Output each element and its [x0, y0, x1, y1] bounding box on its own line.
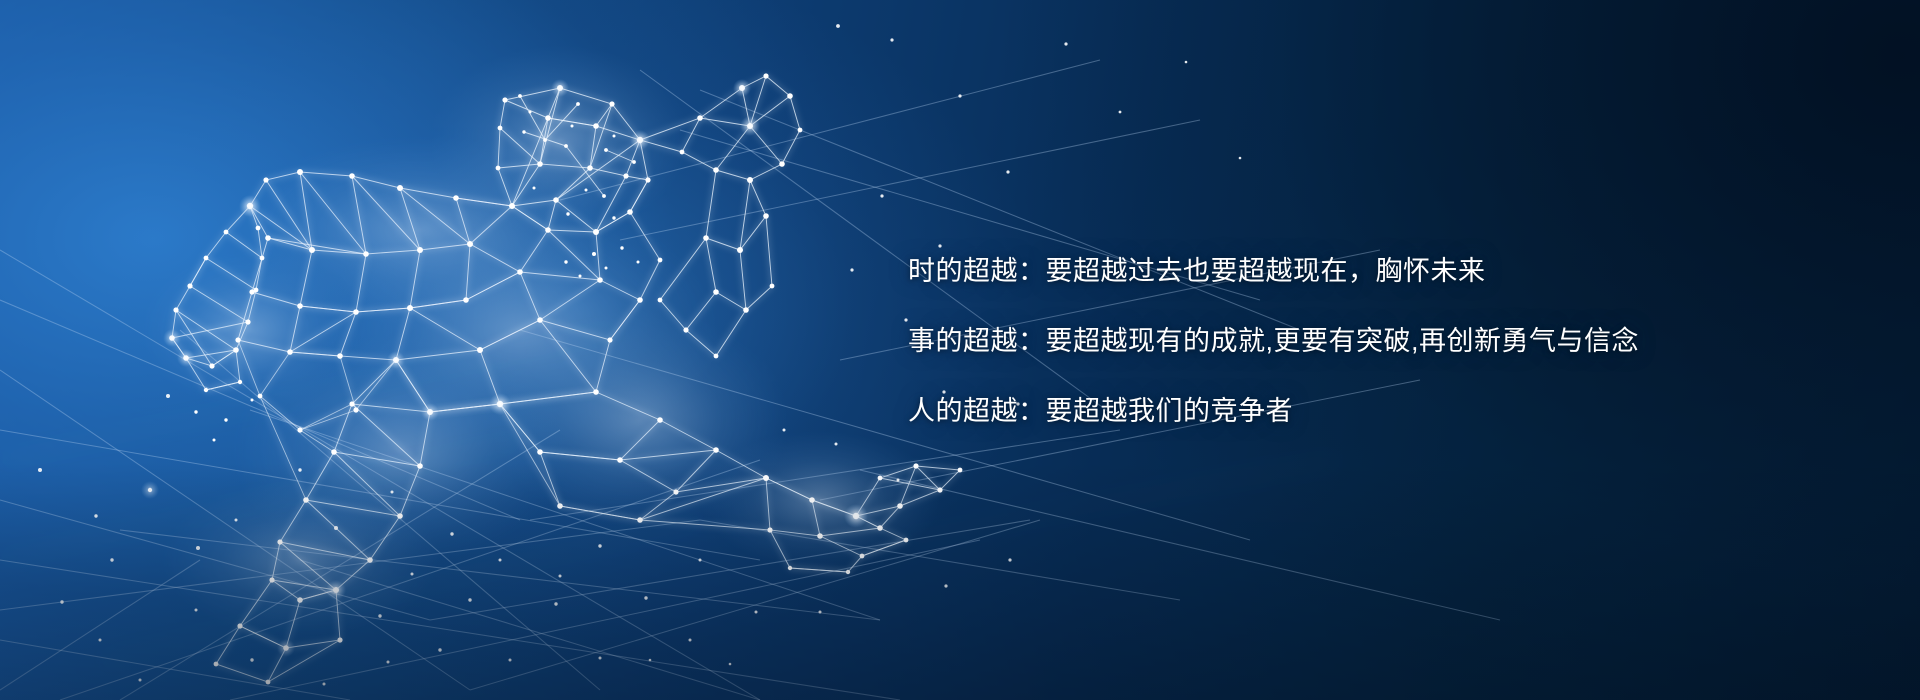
slogan-line-achievement: 事的超越：要超越现有的成就,更要有突破,再创新勇气与信念 — [908, 306, 1788, 376]
slogan-text-block: 时的超越：要超越过去也要超越现在，胸怀未来 事的超越：要超越现有的成就,更要有突… — [908, 236, 1788, 446]
banner-root: 时的超越：要超越过去也要超越现在，胸怀未来 事的超越：要超越现有的成就,更要有突… — [0, 0, 1920, 700]
slogan-line-competitor: 人的超越：要超越我们的竞争者 — [908, 376, 1788, 446]
slogan-line-time: 时的超越：要超越过去也要超越现在，胸怀未来 — [908, 236, 1788, 306]
